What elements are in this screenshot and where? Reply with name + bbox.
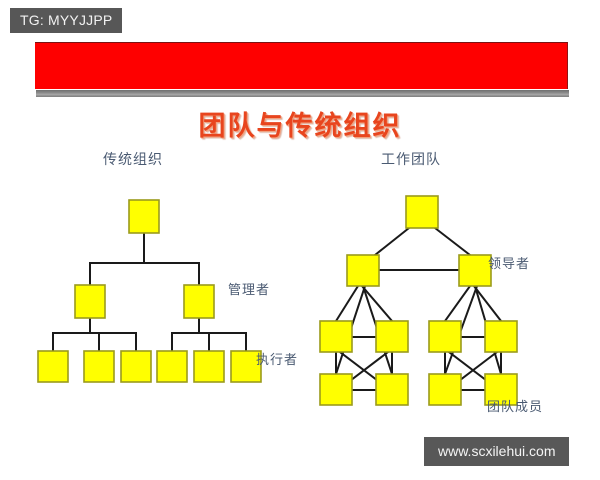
node-worker-2 — [84, 351, 114, 382]
label-traditional-org: 传统组织 — [103, 152, 163, 168]
node-member-b3 — [429, 374, 461, 405]
slide-canvas: TG: MYYJJPP 团队与传统组织 — [0, 0, 600, 480]
node-member-a2 — [376, 321, 408, 352]
node-member-a3 — [320, 374, 352, 405]
node-manager-1 — [75, 285, 105, 318]
tg-tag-badge: TG: MYYJJPP — [10, 8, 122, 33]
node-manager-2 — [184, 285, 214, 318]
node-member-a4 — [376, 374, 408, 405]
node-worker-3 — [121, 351, 151, 382]
node-team-top — [406, 196, 438, 228]
watermark: www.scxilehui.com — [424, 437, 569, 466]
label-team-member: 团队成员 — [487, 400, 543, 416]
node-worker-1 — [38, 351, 68, 382]
red-banner — [35, 42, 568, 97]
right-network-links — [336, 228, 501, 390]
node-member-b2 — [485, 321, 517, 352]
node-member-a1 — [320, 321, 352, 352]
label-leader: 领导者 — [488, 257, 530, 273]
red-banner-shadow — [36, 90, 569, 97]
node-member-b1 — [429, 321, 461, 352]
node-leader-1 — [347, 255, 379, 286]
page-title: 团队与传统组织 — [0, 104, 600, 143]
node-worker-5 — [194, 351, 224, 382]
node-leader-2 — [459, 255, 491, 286]
node-top-executive — [129, 200, 159, 233]
label-worker: 执行者 — [256, 353, 298, 369]
label-work-team: 工作团队 — [381, 152, 441, 168]
label-manager: 管理者 — [228, 283, 270, 299]
node-worker-4 — [157, 351, 187, 382]
red-banner-fill — [35, 42, 568, 89]
